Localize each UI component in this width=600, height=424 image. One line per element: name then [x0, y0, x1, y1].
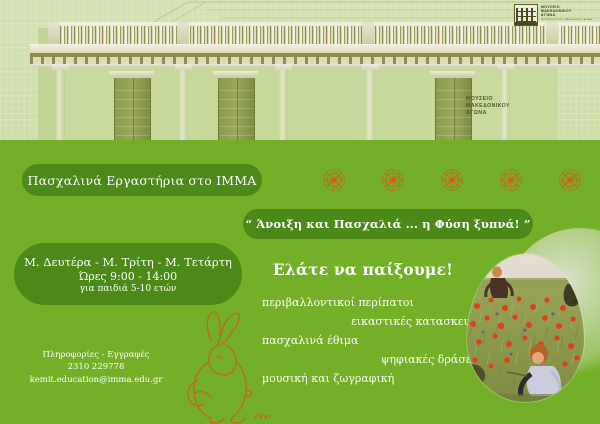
door-panels	[115, 86, 150, 136]
museum-logo[interactable]: ΜΟΥΣΕΙΟ ΜΑΚΕΔΟΝΙΚΟΥ ΑΓΩΝΑ ΙΔΡΥΜΑ ΜΟΥΣΕΙΟ…	[514, 4, 592, 26]
door	[218, 78, 255, 144]
workshop-title-pill: Πασχαλινά Εργαστήρια στο ΙΜΜΑ	[22, 164, 262, 196]
quote-pill: “ Άνοιξη και Πασχαλιά ... η Φύση ξυπνά! …	[243, 209, 533, 239]
schedule-days: Μ. Δευτέρα - Μ. Τρίτη - Μ. Τετάρτη	[24, 255, 232, 269]
play-heading: Ελάτε να παίξουμε!	[268, 260, 458, 279]
door-lintel	[430, 71, 475, 77]
door-lintel	[213, 71, 258, 77]
activities-list: περιβαλλοντικοί περίπατοι εικαστικές κατ…	[262, 297, 482, 392]
flower-icon	[377, 164, 409, 196]
flower-icon	[495, 164, 527, 196]
flower-icon	[436, 164, 468, 196]
contact-block: Πληροφορίες - Εγγραφές 2310 229778 kemit…	[16, 349, 176, 386]
flower-decoration-row	[318, 162, 586, 198]
logo-line-4: ΙΔΡΥΜΑ ΜΟΥΣΕΙΟΥ ΜΑΚΕΔΟΝΙΚΟΥ ΑΓΩΝΑ	[541, 19, 592, 22]
contact-label: Πληροφορίες - Εγγραφές	[16, 349, 176, 361]
contact-phone[interactable]: 2310 229778	[16, 361, 176, 373]
header-building-illustration: ΜΟΥΣΕΙΟ ΜΑΚΕΔΟΝΙΚΟΥ ΑΓΩΝΑ ΜΟΥΣΕΙΟ ΜΑΚΕΔΟ…	[0, 0, 600, 144]
activity-item: πασχαλινά έθιμα	[262, 335, 482, 346]
door-lintel	[109, 71, 154, 77]
activity-item: μουσική και ζωγραφική	[262, 373, 482, 384]
activity-item: εικαστικές κατασκευές	[262, 316, 482, 327]
dentil-base	[30, 64, 600, 67]
quote-text: “ Άνοιξη και Πασχαλιά ... η Φύση ξυπνά! …	[245, 217, 530, 231]
column	[366, 70, 375, 144]
dentil-molding	[30, 57, 600, 64]
contact-email[interactable]: kemit.education@imma.edu.gr	[16, 374, 176, 386]
museum-name-line-1: ΜΟΥΣΕΙΟ	[466, 96, 510, 103]
logo-line-3: ΑΓΩΝΑ	[541, 13, 592, 17]
poster-root: ΜΟΥΣΕΙΟ ΜΑΚΕΔΟΝΙΚΟΥ ΑΓΩΝΑ ΜΟΥΣΕΙΟ ΜΑΚΕΔΟ…	[0, 0, 600, 424]
museum-building-icon	[514, 4, 538, 26]
flower-icon	[318, 164, 350, 196]
flower-icon	[554, 164, 586, 196]
museum-name-line-3: ΑΓΩΝΑ	[466, 110, 510, 117]
column	[179, 70, 188, 144]
workshop-title-text: Πασχαλινά Εργαστήρια στο ΙΜΜΑ	[27, 173, 256, 188]
museum-logo-text: ΜΟΥΣΕΙΟ ΜΑΚΕΔΟΝΙΚΟΥ ΑΓΩΝΑ ΙΔΡΥΜΑ ΜΟΥΣΕΙΟ…	[541, 4, 592, 21]
door	[114, 78, 151, 144]
activity-item: περιβαλλοντικοί περίπατοι	[262, 297, 482, 308]
bunny-illustration	[183, 305, 288, 424]
schedule-pill: Μ. Δευτέρα - Μ. Τρίτη - Μ. Τετάρτη Ώρες …	[14, 243, 242, 305]
schedule-hours: Ώρες 9:00 - 14:00	[79, 270, 177, 283]
door-panels	[219, 86, 254, 136]
column	[279, 70, 288, 144]
column	[56, 70, 65, 144]
museum-name-line-2: ΜΑΚΕΔΟΝΙΚΟΥ	[466, 103, 510, 110]
activity-item: ψηφιακές δράσεις	[262, 354, 482, 365]
schedule-ages: για παιδιά 5-10 ετών	[80, 284, 177, 294]
museum-name-lettering: ΜΟΥΣΕΙΟ ΜΑΚΕΔΟΝΙΚΟΥ ΑΓΩΝΑ	[466, 96, 510, 117]
